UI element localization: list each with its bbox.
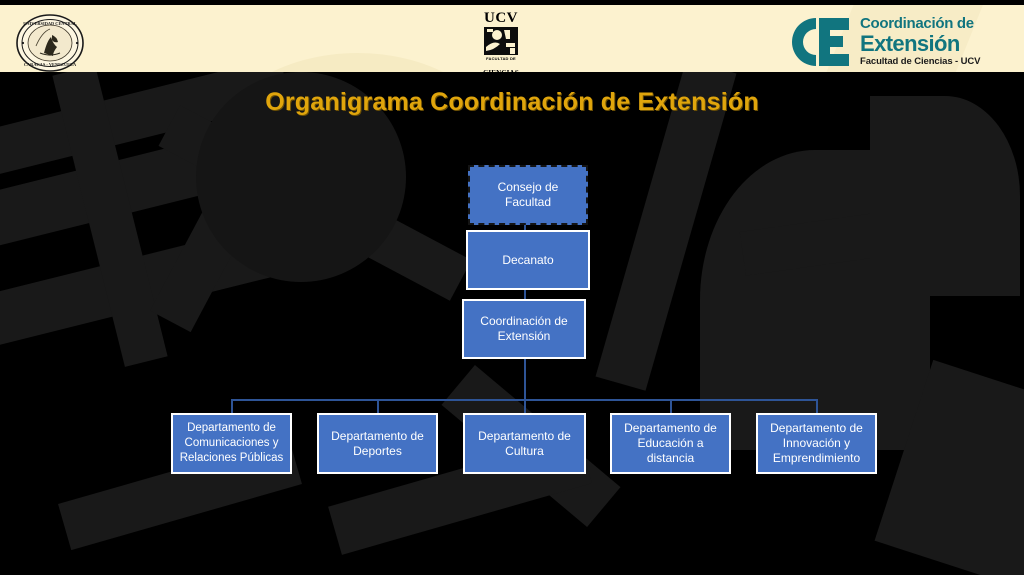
node-coordinacion-de-extension[interactable]: Coordinación de Extensión — [462, 299, 586, 359]
node-departamento-educacion-distancia[interactable]: Departamento de Educación a distancia — [610, 413, 731, 474]
node-label: Departamento de Comunicaciones y Relacio… — [177, 421, 286, 466]
node-departamento-deportes[interactable]: Departamento de Deportes — [317, 413, 438, 474]
org-chart: Consejo de Facultad Decanato Coordinació… — [0, 0, 1024, 575]
node-label: Departamento de Cultura — [469, 429, 580, 459]
slide-canvas: UNIVERSIDAD CENTRAL CARACAS - VENEZUELA … — [0, 0, 1024, 575]
connector-coordinacion-bus — [524, 356, 526, 400]
node-departamento-comunicaciones[interactable]: Departamento de Comunicaciones y Relacio… — [171, 413, 292, 474]
node-departamento-innovacion-emprendimiento[interactable]: Departamento de Innovación y Emprendimie… — [756, 413, 877, 474]
node-label: Departamento de Educación a distancia — [616, 421, 725, 466]
node-label: Coordinación de Extensión — [468, 314, 580, 344]
node-label: Departamento de Deportes — [323, 429, 432, 459]
node-label: Consejo de Facultad — [474, 180, 582, 210]
node-label: Departamento de Innovación y Emprendimie… — [762, 421, 871, 466]
node-decanato[interactable]: Decanato — [466, 230, 590, 290]
node-label: Decanato — [502, 253, 553, 268]
node-departamento-cultura[interactable]: Departamento de Cultura — [463, 413, 586, 474]
node-consejo-de-facultad[interactable]: Consejo de Facultad — [468, 165, 588, 225]
